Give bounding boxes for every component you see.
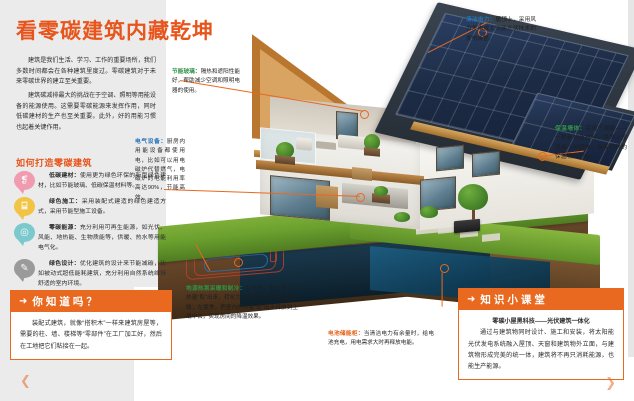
intro-paragraphs: 建筑是我们生活、学习、工作的重要场所，我们多数时间都会在各种建筑里度过。零碳建筑… xyxy=(16,56,156,137)
kitchen-cabinet xyxy=(316,185,338,209)
did-you-know-header: ➜ 你知道吗？ xyxy=(11,291,171,312)
design-bubble-icon: ✎ xyxy=(14,259,35,278)
callout-energy-saving-glass-text: 节能玻璃：隔热和遮阳性能好，帮助减少空调和照明电器的使用。 xyxy=(172,68,240,96)
knowledge-class-text: 通过与建筑物同时设计、施工和安装，将太阳能光伏发电系统融入屋顶、天窗和建筑物外立… xyxy=(468,327,614,372)
page-next-arrow-icon[interactable]: ❯ xyxy=(605,375,616,391)
arrow-right-icon: ➜ xyxy=(467,294,475,305)
page-prev-arrow-icon[interactable]: ❮ xyxy=(20,373,31,389)
infographic-page: 看零碳建筑内藏乾坤 建筑是我们生活、学习、工作的重要场所，我们多数时间都会在各种… xyxy=(0,0,634,401)
page-title: 看零碳建筑内藏乾坤 xyxy=(16,20,226,43)
knowledge-class-box: ➜ 知识小课堂 零碳小屋黑科技——光伏建筑一体化 通过与建筑物同时设计、施工和安… xyxy=(458,288,624,380)
leaf-bubble-icon: ❡ xyxy=(14,171,35,190)
hedge-front xyxy=(420,206,438,218)
knowledge-class-title: 知识小课堂 xyxy=(480,292,548,307)
leaf-bubble-glyph: ❡ xyxy=(14,171,35,190)
design-bubble-glyph: ✎ xyxy=(14,259,35,278)
callout-electric-appliances: 电气设备：厨房内用能设备都使用电，比如可以用电磁炉代替燃气，电磁炉的电能利用率高… xyxy=(135,138,185,203)
callout-battery-storage-text: 电池储能柜：当清洁电力有余量时，给电池充电，用电需求大时再释放电能。 xyxy=(328,330,434,349)
factory-bubble-glyph: ⌸ xyxy=(14,197,35,216)
callout-clean-power: 清洁电力：屋顶上，采用风力发电或太阳能光伏技术的发电装置。 xyxy=(466,16,536,44)
battery-storage-cabinet xyxy=(454,219,480,234)
did-you-know-box: ➜ 你知道吗？ 装配式建筑，就像“搭积木”一样来建筑房屋等，需要的柱、墙、楼梯等… xyxy=(10,290,172,360)
interior-plant xyxy=(374,186,388,196)
sun-bubble-glyph: ◎ xyxy=(14,223,35,242)
window-right-upper-1 xyxy=(436,145,464,172)
callout-ground-source-heat-pump: 地源热泵采暖和制冷：在冬季，把土壤中的热量“取”出来，转化为热能后供给室内用于采… xyxy=(186,285,298,322)
list-item: ◎ 零碳能源：充分利用可再生能源，如光伏、风能、地热能、生物质能等，供暖、热水等… xyxy=(14,222,166,253)
callout-energy-saving-glass: 节能玻璃：隔热和遮阳性能好，帮助减少空调和照明电器的使用。 xyxy=(172,68,240,96)
window-right-upper-2 xyxy=(472,151,500,178)
upper-cabinet xyxy=(352,167,372,181)
intro-paragraph-2: 建筑碳减排最大的挑战在于空调、照明等用能设备的能源使用。这需要零碳能源来发挥作用… xyxy=(16,91,156,134)
intro-paragraph-1: 建筑是我们生活、学习、工作的重要场所，我们多数时间都会在各种建筑里度过。零碳建筑… xyxy=(16,56,156,88)
callout-clean-power-text: 清洁电力：屋顶上，采用风力发电或太阳能光伏技术的发电装置。 xyxy=(466,16,536,44)
callout-ground-source-heat-pump-text: 地源热泵采暖和制冷：在冬季，把土壤中的热量“取”出来，转化为热能后供给室内用于采… xyxy=(186,285,298,322)
arrow-right-icon: ➜ xyxy=(19,296,27,307)
knowledge-class-header: ➜ 知识小课堂 xyxy=(459,289,623,310)
callout-insulated-wall: 保温墙体：采用气凝胶——一种新科技材料，世界上密度最小的固体，具有优异的保温隔热… xyxy=(555,125,627,162)
attic-armchair xyxy=(296,137,312,151)
sidebar-item-label: 绿色设计：优化建筑的设计来节能减碳，比如被动式超低能耗建筑，充分利用自然系统维持… xyxy=(38,258,166,289)
garden-tree-canopy xyxy=(458,184,488,210)
sidebar-item-label: 零碳能源：充分利用可再生能源，如光伏、风能、地热能、生物质能等，供暖、热水等用能… xyxy=(38,222,166,253)
callout-insulated-wall-text: 保温墙体：采用气凝胶——一种新科技材料，世界上密度最小的固体，具有优异的保温隔热… xyxy=(555,125,627,162)
hedge-side xyxy=(394,212,410,222)
list-item: ✎ 绿色设计：优化建筑的设计来节能减碳，比如被动式超低能耗建筑，充分利用自然系统… xyxy=(14,258,166,289)
callout-battery-storage: 电池储能柜：当清洁电力有余量时，给电池充电，用电需求大时再释放电能。 xyxy=(328,330,434,349)
factory-bubble-icon: ⌸ xyxy=(14,197,35,216)
attic-pot xyxy=(364,147,380,157)
callout-marker-appliances xyxy=(356,193,365,202)
did-you-know-title: 你知道吗？ xyxy=(32,294,100,309)
did-you-know-body: 装配式建筑，就像“搭积木”一样来建筑房屋等，需要的柱、墙、楼梯等“零部件”在工厂… xyxy=(11,312,171,359)
knowledge-class-body: 零碳小屋黑科技——光伏建筑一体化 通过与建筑物同时设计、施工和安装，将太阳能光伏… xyxy=(459,310,623,379)
callout-electric-appliances-text: 电气设备：厨房内用能设备都使用电，比如可以用电磁炉代替燃气，电磁炉的电能利用率高… xyxy=(135,138,185,203)
leader-line-battery xyxy=(441,273,442,307)
sun-bubble-icon: ◎ xyxy=(14,223,35,242)
callout-marker-heat-pump xyxy=(234,258,243,267)
knowledge-class-subtitle: 零碳小屋黑科技——光伏建筑一体化 xyxy=(468,316,614,327)
did-you-know-text: 装配式建筑，就像“搭积木”一样来建筑房屋等，需要的柱、墙、楼梯等“零部件”在工厂… xyxy=(20,318,162,352)
